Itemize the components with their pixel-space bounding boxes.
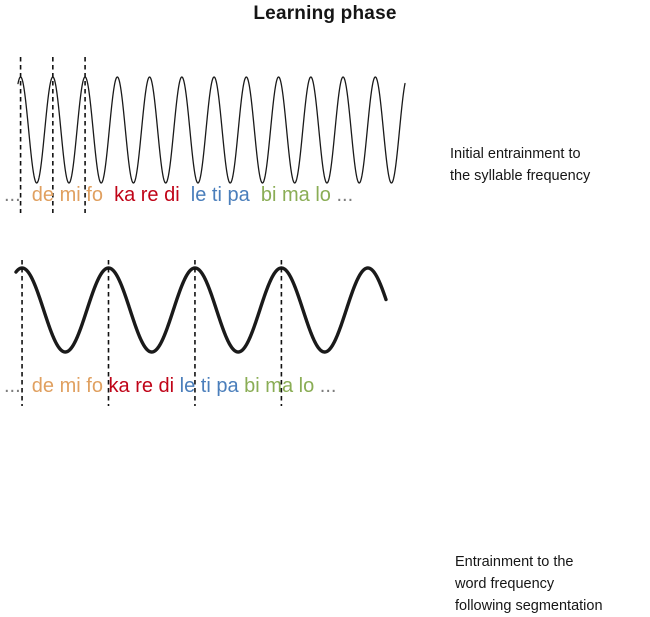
waveform-path-syllable xyxy=(18,77,405,183)
trailing-ellipsis: ... xyxy=(331,184,353,206)
syllable-group-orange: de mi fo xyxy=(26,375,103,397)
syllable: ti xyxy=(206,184,222,206)
caption-syllable-entrainment: Initial entrainment to the syllable freq… xyxy=(450,143,650,187)
syllable-group-red: ka re di xyxy=(103,375,174,397)
waveform-area-syllable xyxy=(8,45,428,185)
syllable-group-red: ka re di xyxy=(109,184,186,206)
syllable: ma xyxy=(260,375,293,397)
caption-line: word frequency xyxy=(455,573,650,595)
caption-line: Initial entrainment to xyxy=(450,143,650,165)
page-title: Learning phase xyxy=(0,3,650,25)
syllable: fo xyxy=(81,184,103,206)
trailing-ellipsis: ... xyxy=(314,375,336,397)
caption-line: following segmentation xyxy=(455,595,650,617)
syllable: bi xyxy=(255,184,276,206)
waveform-area-word xyxy=(8,248,428,378)
syllable: re xyxy=(130,375,153,397)
syllable: pa xyxy=(222,184,250,206)
syllable-group-green: bi ma lo xyxy=(255,184,331,206)
syllable-group-blue: le ti pa xyxy=(174,375,239,397)
syllable: bi xyxy=(239,375,260,397)
syllable: le xyxy=(174,375,195,397)
syllable-group-orange: de mi fo xyxy=(26,184,108,206)
syllable: mi xyxy=(54,375,81,397)
syllable: ka xyxy=(109,184,136,206)
waveform-path-word xyxy=(16,268,386,352)
panel-syllable-entrainment: ... de mi fo ka re di le ti pa bi ma lo … xyxy=(0,45,650,220)
syllable: ka xyxy=(103,375,130,397)
syllable: pa xyxy=(211,375,239,397)
panel-word-entrainment: ... de mi fo ka re di le ti pa bi ma lo … xyxy=(0,248,650,427)
syllable-stream-syllable-panel: ... de mi fo ka re di le ti pa bi ma lo … xyxy=(4,185,353,205)
syllable-stream-word-panel: ... de mi fo ka re di le ti pa bi ma lo … xyxy=(4,376,336,396)
syllable: lo xyxy=(310,184,331,206)
syllable: fo xyxy=(81,375,103,397)
syllable-group-blue: le ti pa xyxy=(185,184,255,206)
leading-ellipsis: ... xyxy=(4,375,21,397)
syllable: ti xyxy=(195,375,211,397)
caption-line: Entrainment to the xyxy=(455,551,650,573)
syllable: di xyxy=(159,184,180,206)
leading-ellipsis: ... xyxy=(4,184,21,206)
caption-word-entrainment: Entrainment to the word frequency follow… xyxy=(455,551,650,617)
syllable: mi xyxy=(54,184,81,206)
syllable: di xyxy=(153,375,174,397)
syllable: lo xyxy=(293,375,314,397)
syllable-group-green: bi ma lo xyxy=(239,375,315,397)
syllable: ma xyxy=(276,184,309,206)
syllable: le xyxy=(185,184,206,206)
syllable: de xyxy=(26,184,54,206)
caption-line: the syllable frequency xyxy=(450,165,650,187)
syllable: re xyxy=(135,184,158,206)
syllable: de xyxy=(26,375,54,397)
